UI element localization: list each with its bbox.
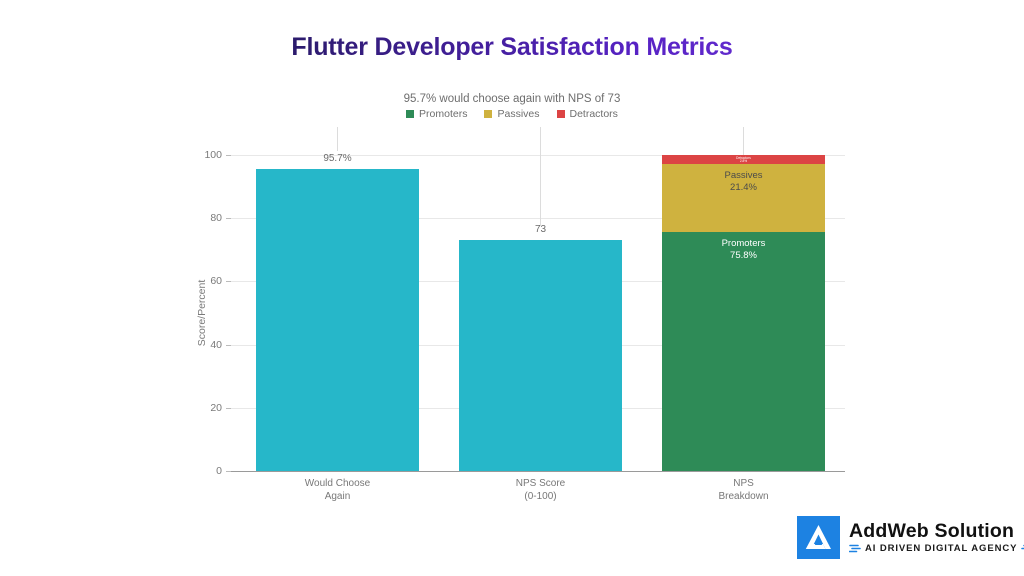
ytick-mark-100 [226,155,231,156]
brand-tagline: AI DRIVEN DIGITAL AGENCY [865,543,1017,554]
legend-item-detractors[interactable]: Detractors [557,108,618,120]
legend-label-passives: Passives [497,108,539,120]
swoosh-left-icon [849,544,861,553]
x-axis-label-nps-score: NPS Score (0-100) [459,477,622,503]
segment-value-detractors: 2.8% [740,159,747,163]
ytick-mark-80 [226,218,231,219]
x-label-line1-3: NPS [733,478,754,489]
segment-name-passives: Passives [724,170,762,181]
segment-name-detractors: Detractors [736,156,751,160]
addweb-logo-icon [797,516,840,559]
connector-line-bar-1 [337,127,338,151]
legend-item-promoters[interactable]: Promoters [406,108,467,120]
brand-text: AddWeb Solution AI DRIVEN DIGITAL AGENCY [849,521,1024,554]
chart-legend: Promoters Passives Detractors [0,108,1024,120]
x-label-line2-3: Breakdown [718,491,768,502]
bar-segment-score[interactable] [256,169,419,471]
segment-value-passives: 21.4% [730,182,757,193]
brand-logo: AddWeb Solution AI DRIVEN DIGITAL AGENCY [797,516,1024,559]
chart-title: Flutter Developer Satisfaction Metrics [0,33,1024,62]
bar-would-choose-again[interactable]: 95.7% [256,169,419,471]
bar-segment-passives[interactable]: Passives 21.4% [662,164,825,232]
ytick-label-20: 20 [210,402,222,414]
x-axis-line [231,471,845,472]
segment-name-promoters: Promoters [722,238,766,249]
ytick-label-100: 100 [204,149,222,161]
connector-line-bar-3 [743,127,744,155]
bar-segment-promoters[interactable]: Promoters 75.8% [662,232,825,472]
ytick-mark-60 [226,281,231,282]
ytick-label-80: 80 [210,212,222,224]
x-axis-label-would-choose-again: Would Choose Again [256,477,419,503]
bar-segment-detractors[interactable]: Detractors 2.8% [662,155,825,164]
ytick-label-60: 60 [210,275,222,287]
legend-item-passives[interactable]: Passives [484,108,539,120]
bar-segment-nps[interactable] [459,240,622,471]
x-axis-label-nps-breakdown: NPS Breakdown [662,477,825,503]
ytick-mark-40 [226,345,231,346]
bar-value-label-nps-score: 73 [459,224,622,235]
ytick-label-40: 40 [210,339,222,351]
legend-label-promoters: Promoters [419,108,467,120]
chart-subtitle: 95.7% would choose again with NPS of 73 [0,93,1024,105]
plot-area: 100 80 60 40 20 0 95.7% 73 Promoters 75.… [231,155,845,471]
segment-label-promoters: Promoters 75.8% [662,238,825,262]
legend-swatch-promoters [406,110,414,118]
ytick-mark-20 [226,408,231,409]
brand-tagline-row: AI DRIVEN DIGITAL AGENCY [849,543,1024,554]
ytick-label-0: 0 [216,465,222,477]
legend-swatch-detractors [557,110,565,118]
segment-label-detractors: Detractors 2.8% [662,157,825,164]
segment-value-promoters: 75.8% [730,250,757,261]
bar-value-label-would-choose-again: 95.7% [256,153,419,164]
x-label-line2-2: (0-100) [524,491,556,502]
brand-name: AddWeb Solution [849,521,1024,542]
x-label-line2-1: Again [325,491,351,502]
bar-nps-score[interactable]: 73 [459,240,622,471]
legend-label-detractors: Detractors [570,108,618,120]
legend-swatch-passives [484,110,492,118]
y-axis-title: Score/Percent [196,280,208,347]
x-label-line1-2: NPS Score [516,478,565,489]
connector-line-bar-2 [540,127,541,226]
x-label-line1-1: Would Choose [305,478,370,489]
bar-nps-breakdown[interactable]: Promoters 75.8% Passives 21.4% Detractor… [662,155,825,471]
segment-label-passives: Passives 21.4% [662,170,825,194]
